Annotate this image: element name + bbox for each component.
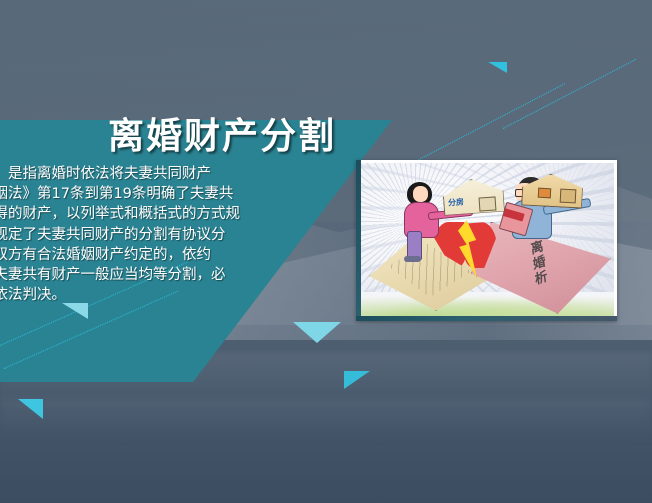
body-line-6: 定归各自所有。夫妻共有财产一般应当均等分割，必 [0,265,297,285]
water-shimmer-band-2 [0,400,652,440]
woman-face [413,186,428,202]
triangle-accent-lower-left [18,399,43,419]
illustration-edge-bottom [356,316,617,321]
grass-ground [359,292,614,318]
house-left-label: 分房 [448,197,465,209]
body-line-2: 分开。现行《婚姻法》第17条到第19条明确了夫妻共 [0,184,297,204]
body-line-7: 要时人民法院应依法判决。 [0,285,297,305]
illustration-edge-left [356,160,361,321]
triangle-accent-upper-right [488,62,507,73]
body-line-3: 同财产和共同取得的财产，以列举式和概括式的方式规 [0,204,297,224]
illustration-frame: 分房 离 婚 析 [356,160,617,321]
slide-canvas: 离婚财产分割 离婚财产的分割，是指离婚时依法将夫妻共同财产 分开。现行《婚姻法》… [0,0,652,503]
woman-shoe [404,256,422,262]
house-right-window [537,187,551,197]
illustration-cartoon-divorce: 分房 离 婚 析 [359,163,614,318]
slide-body-text: 离婚财产的分割，是指离婚时依法将夫妻共同财产 分开。现行《婚姻法》第17条到第1… [0,164,297,305]
house-left-door [478,197,496,213]
body-line-5: 割。在离婚时，双方有合法婚姻财产约定的，依约 [0,245,297,265]
triangle-accent-center [293,322,341,343]
body-line-4: 定下来。该法也规定了夫妻共同财产的分割有协议分 [0,225,297,245]
slide-title: 离婚财产分割 [108,107,336,159]
body-line-1: 离婚财产的分割，是指离婚时依法将夫妻共同财产 [0,164,297,184]
triangle-accent-right [344,371,370,389]
house-right-door [560,189,577,204]
